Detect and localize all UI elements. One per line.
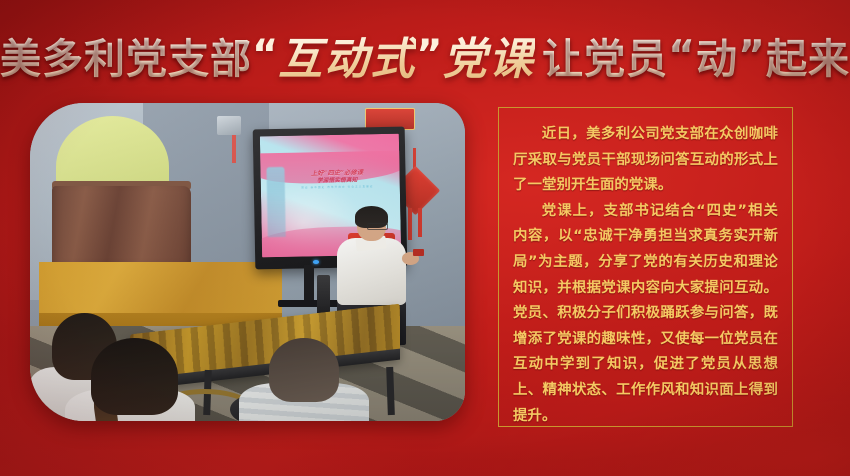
photo-scene: 上好“四史”必修课 学深悟实悟真知 党史 新中国史 改革开放史 社会主义发展史 <box>30 103 465 421</box>
article-paragraph-2: 党课上，支部书记结合“四史”相关内容，以“忠诚干净勇担当求真务实开新局”为主题，… <box>513 199 778 429</box>
title-quote-close: ” <box>416 32 442 78</box>
title-segment-let-members: 让党员 <box>542 25 668 85</box>
article-text-container: 近日，美多利公司党支部在众创咖啡厅采取与党员干部现场问答互动的形式上了一堂别开生… <box>513 122 778 414</box>
title-quote-open: “ <box>252 32 278 78</box>
title-quote-close-2: ” <box>738 31 766 79</box>
scene-attendee-2-hair <box>91 338 178 414</box>
scene-tv-base <box>278 300 343 306</box>
scene-table-leg-right <box>386 367 395 415</box>
scene-tv-stand <box>304 265 314 303</box>
title-segment-move: 动 <box>696 25 738 85</box>
scene-knot-tassel-2 <box>418 208 422 237</box>
scene-remote-icon <box>413 249 424 255</box>
slide-line-3: 党史 新中国史 改革开放史 社会主义发展史 <box>283 185 392 190</box>
page-title: 美多利党支部 “ 互动式 ” 党课 让党员 “ 动 ” 起来 <box>0 22 850 88</box>
article-paragraph-1: 近日，美多利公司党支部在众创咖啡厅采取与党员干部现场问答互动的形式上了一堂别开生… <box>513 122 778 199</box>
title-segment-company: 美多利党支部 <box>0 25 252 85</box>
title-segment-interactive: 互动式 <box>278 23 416 87</box>
scene-wall-pipe <box>232 135 236 164</box>
scene-wall-box-icon <box>217 116 241 135</box>
scene-speaker-glasses-icon <box>367 223 388 231</box>
slide-line-2: 学深悟实悟真知 <box>283 177 392 185</box>
slide-text-block: 上好“四史”必修课 学深悟实悟真知 党史 新中国史 改革开放史 社会主义发展史 <box>282 170 391 190</box>
poster-canvas: 美多利党支部 “ 互动式 ” 党课 让党员 “ 动 ” 起来 <box>0 0 850 476</box>
title-segment-rise: 起来 <box>766 25 850 85</box>
scene-knot-tassel-1 <box>408 208 412 240</box>
title-segment-party-lesson: 党课 <box>443 23 535 87</box>
scene-attendee-3-hair <box>269 338 339 402</box>
event-photo: 上好“四史”必修课 学深悟实悟真知 党史 新中国史 改革开放史 社会主义发展史 <box>30 103 465 421</box>
article-panel: 近日，美多利公司党支部在众创咖啡厅采取与党员干部现场问答互动的形式上了一堂别开生… <box>498 107 793 427</box>
title-quote-open-2: “ <box>668 31 696 79</box>
